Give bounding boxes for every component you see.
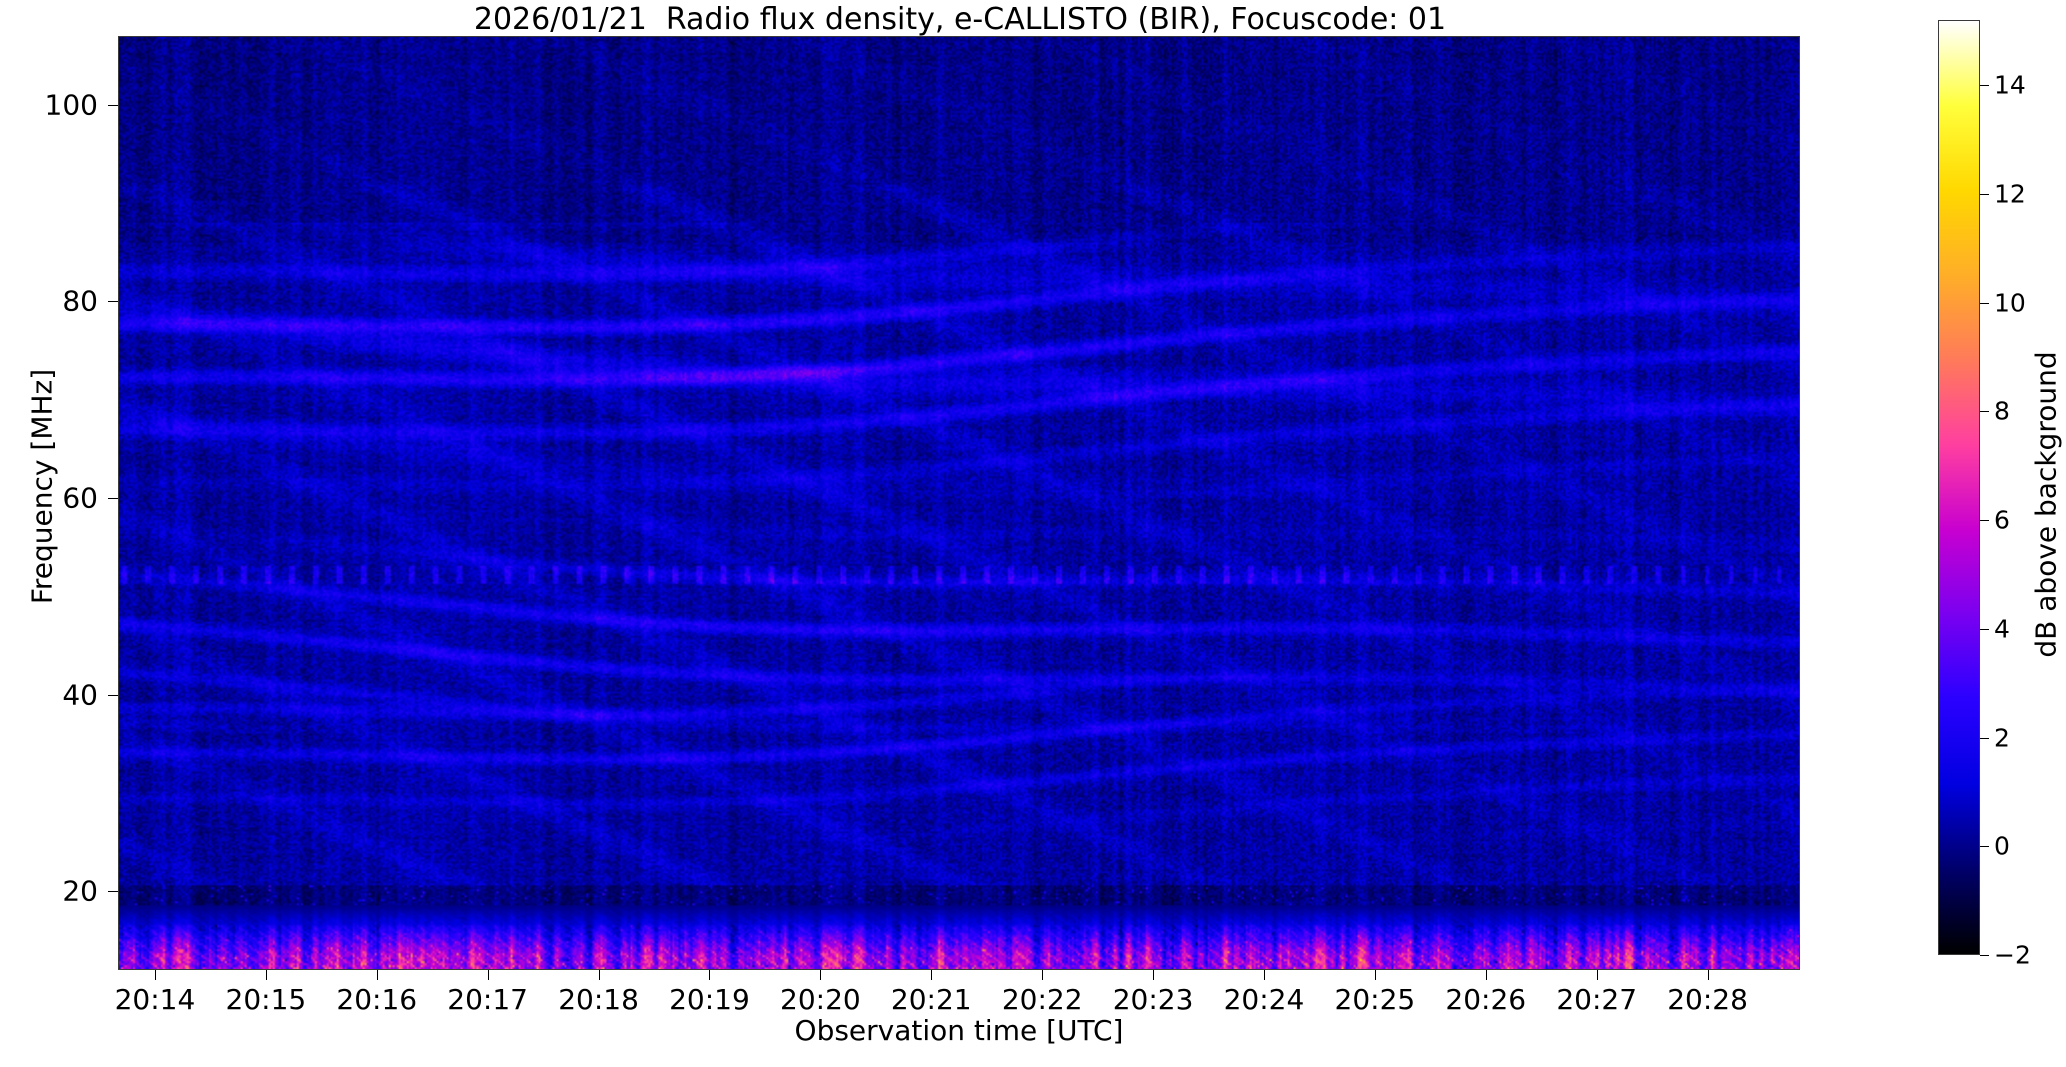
x-tick-mark [1486,970,1487,980]
x-tick-label: 20:14 [115,983,196,1016]
colorbar-tick-mark [1980,85,1989,86]
colorbar-tick-mark [1980,520,1989,521]
y-tick-mark [108,891,118,892]
colorbar-tick-mark [1980,955,1989,956]
colorbar-tick-label: 6 [1994,506,2010,535]
x-tick-label: 20:21 [891,983,972,1016]
x-tick-label: 20:23 [1113,983,1194,1016]
x-tick-mark [820,970,821,980]
x-tick-mark [1264,970,1265,980]
colorbar-tick-label: −2 [1994,941,2031,970]
x-tick-label: 20:19 [669,983,750,1016]
y-tick-label: 80 [62,285,108,318]
colorbar-tick-label: 4 [1994,614,2010,643]
x-tick-mark [377,970,378,980]
colorbar-tick-mark [1980,738,1989,739]
x-tick-mark [1153,970,1154,980]
x-tick-mark [709,970,710,980]
colorbar-tick-mark [1980,194,1989,195]
x-tick-mark [1042,970,1043,980]
x-tick-mark [488,970,489,980]
colorbar-tick-mark [1980,303,1989,304]
y-tick-label: 40 [62,678,108,711]
page-title: 2026/01/21 Radio flux density, e-CALLIST… [0,2,1920,38]
colorbar-tick-label: 8 [1994,397,2010,426]
x-tick-label: 20:28 [1667,983,1748,1016]
x-tick-mark [931,970,932,980]
x-tick-mark [1597,970,1598,980]
x-tick-mark [1375,970,1376,980]
spectrogram-plot-area[interactable] [118,36,1800,970]
colorbar-gradient [1938,20,1980,955]
x-axis-label: Observation time [UTC] [118,1014,1800,1047]
colorbar[interactable] [1938,20,1980,955]
y-tick-label: 20 [62,875,108,908]
x-tick-label: 20:18 [558,983,639,1016]
colorbar-tick-mark [1980,411,1989,412]
x-tick-mark [155,970,156,980]
x-tick-label: 20:20 [780,983,861,1016]
x-tick-mark [1708,970,1709,980]
y-tick-mark [108,105,118,106]
x-tick-label: 20:16 [336,983,417,1016]
x-tick-mark [266,970,267,980]
y-tick-label: 100 [45,88,108,121]
y-tick-mark [108,301,118,302]
spectrogram-image [119,37,1799,969]
x-tick-mark [599,970,600,980]
y-tick-mark [108,498,118,499]
x-tick-label: 20:22 [1002,983,1083,1016]
y-tick-label: 60 [62,482,108,515]
colorbar-tick-label: 12 [1994,179,2026,208]
x-tick-label: 20:27 [1556,983,1637,1016]
x-tick-label: 20:24 [1224,983,1305,1016]
colorbar-tick-label: 10 [1994,288,2026,317]
colorbar-tick-mark [1980,846,1989,847]
y-tick-mark [108,695,118,696]
colorbar-tick-label: 0 [1994,832,2010,861]
x-tick-label: 20:17 [447,983,528,1016]
x-tick-label: 20:25 [1335,983,1416,1016]
y-axis-label: Frequency [MHz] [26,87,59,887]
colorbar-tick-mark [1980,629,1989,630]
colorbar-tick-label: 2 [1994,723,2010,752]
colorbar-tick-label: 14 [1994,71,2026,100]
x-tick-label: 20:15 [226,983,307,1016]
colorbar-label: dB above background [2030,155,2063,855]
x-tick-label: 20:26 [1445,983,1526,1016]
